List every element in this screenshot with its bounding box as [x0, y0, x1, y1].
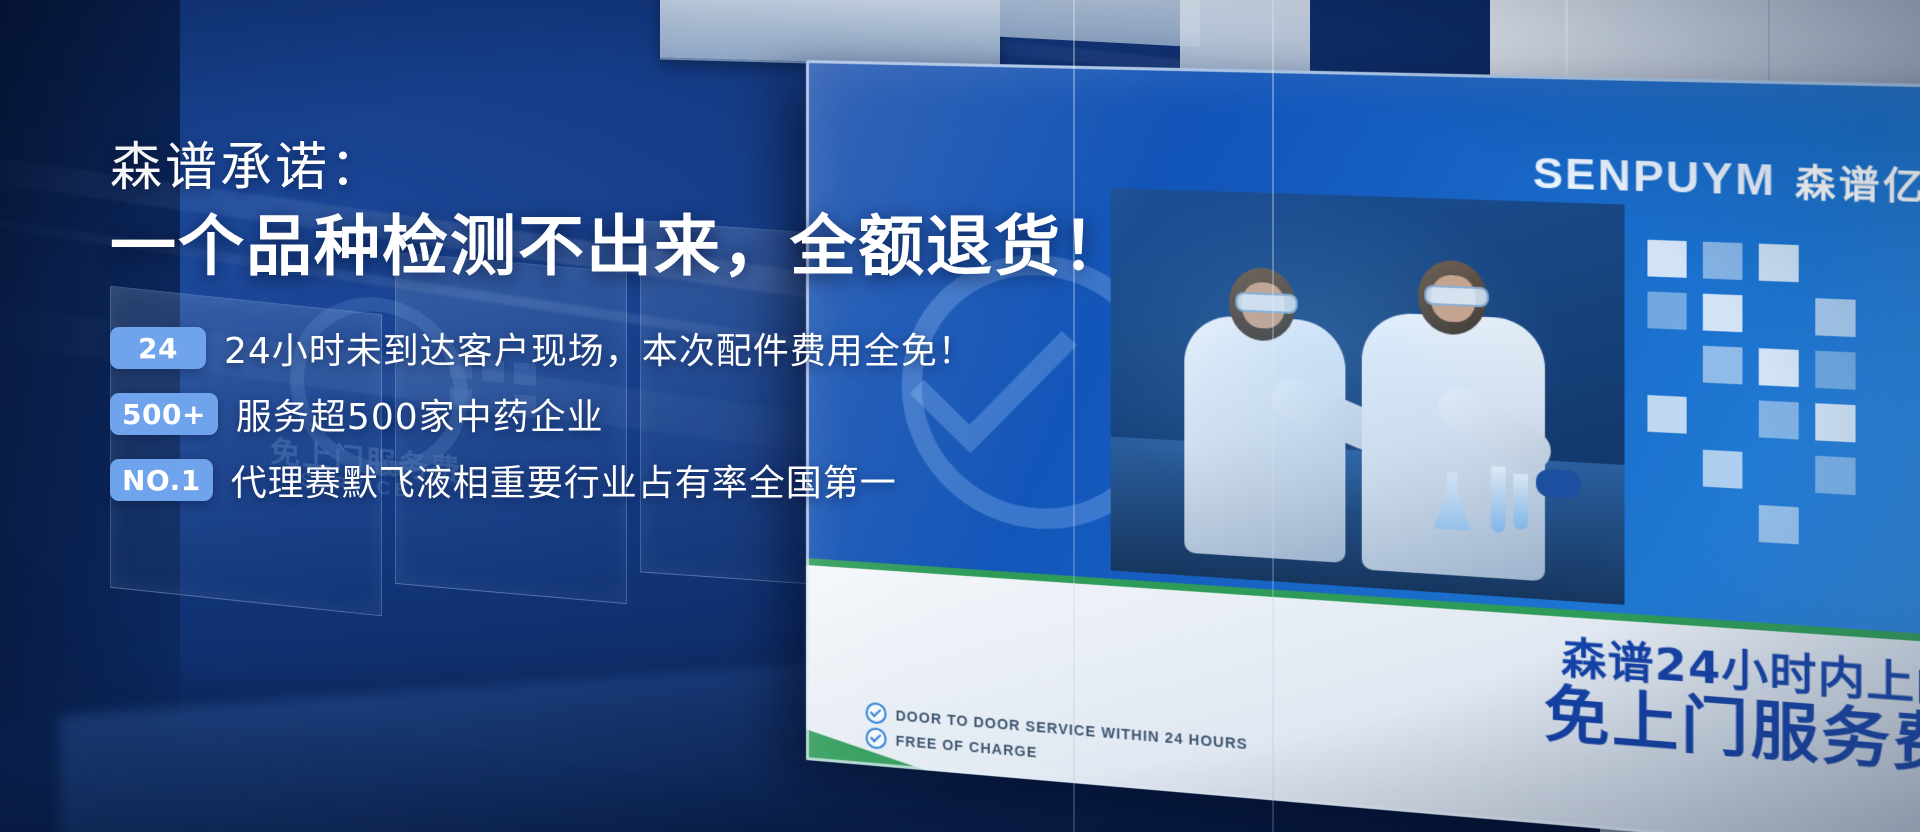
status-badge: 500+ — [110, 393, 218, 435]
bullet-text: 代理赛默飞液相重要行业占有率全国第一 — [231, 454, 897, 506]
logo-text-chinese: 森谱亿铭 — [1795, 153, 1920, 212]
eyebrow-text: 森谱承诺： — [110, 140, 1110, 197]
promise-bullet-list: 24 24小时未到达客户现场，本次配件费用全免！ 500+ 服务超500家中药企… — [110, 322, 1110, 506]
bullet-text: 服务超500家中药企业 — [236, 388, 604, 440]
mosaic-squares-decoration — [1647, 240, 1920, 571]
status-badge: NO.1 — [110, 459, 213, 501]
list-item: 500+ 服务超500家中药企业 — [110, 388, 1110, 440]
logo-text-english: SENPUYM — [1533, 150, 1777, 206]
check-circle-icon — [866, 702, 887, 725]
lab-scientists-photo — [1111, 188, 1625, 605]
status-badge: 24 — [110, 327, 206, 369]
photo-glow-overlay — [1111, 188, 1625, 605]
check-circle-icon — [866, 727, 887, 750]
poster-canvas: 免上门服务费 SERVICE SENPUYM 森谱亿铭 — [0, 0, 1920, 832]
list-item: NO.1 代理赛默飞液相重要行业占有率全国第一 — [110, 454, 1110, 506]
main-headline: 一个品种检测不出来，全额退货！ — [110, 211, 1110, 282]
bullet-text: 24小时未到达客户现场，本次配件费用全免！ — [224, 322, 975, 374]
list-item: 24 24小时未到达客户现场，本次配件费用全免！ — [110, 322, 1110, 374]
billboard-english-text: FREE OF CHARGE — [896, 732, 1038, 760]
promise-copy-block: 森谱承诺： 一个品种检测不出来，全额退货！ 24 24小时未到达客户现场，本次配… — [110, 140, 1110, 520]
